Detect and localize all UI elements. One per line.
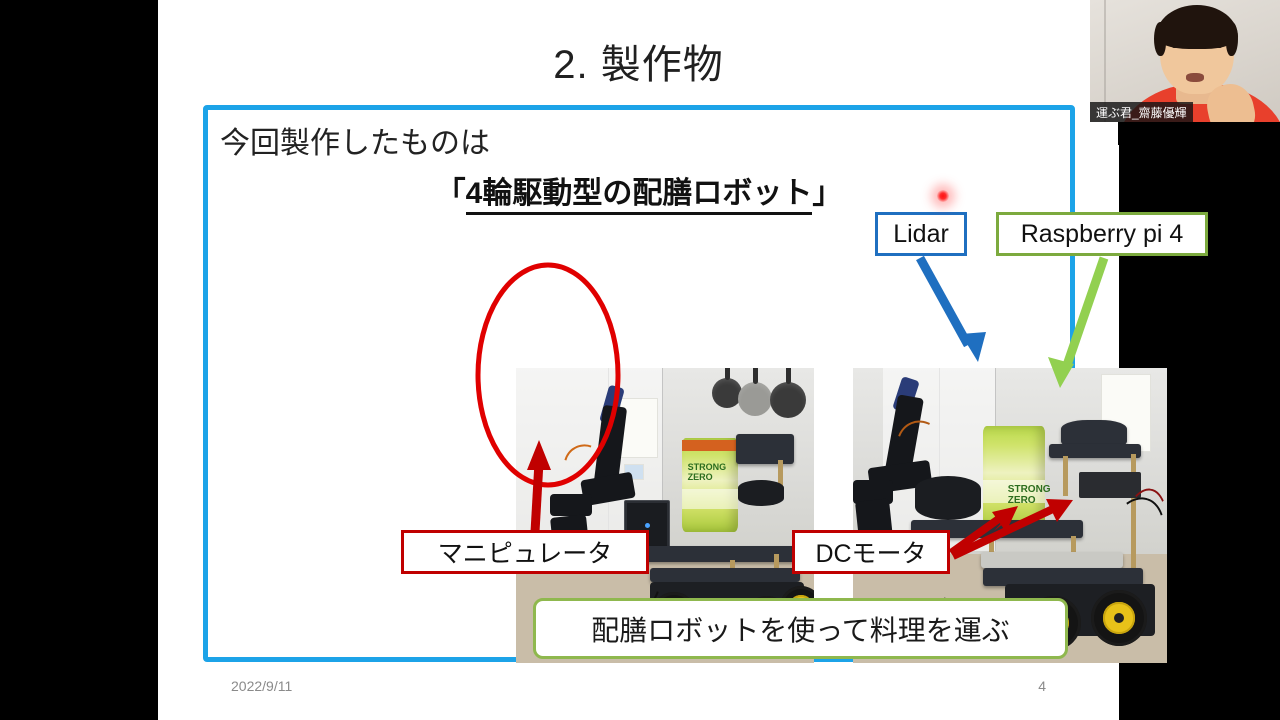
- manipulator-base-joint: [550, 494, 592, 516]
- letterbox-left: [0, 0, 158, 720]
- footer-page-number: 4: [1038, 678, 1046, 694]
- callout-raspberry-pi: Raspberry pi 4: [996, 212, 1208, 256]
- summary-text: 配膳ロボットを使って料理を運ぶ: [591, 609, 1010, 649]
- drink-can: STRONG ZERO: [983, 426, 1045, 530]
- wall-paper-note: [620, 398, 658, 458]
- pan-handle: [725, 368, 730, 380]
- slide-title: 2. 製作物: [158, 32, 1119, 90]
- slide-canvas: 2. 製作物 今回製作したものは 「4輪駆動型の配膳ロボット」: [158, 0, 1119, 720]
- wheel-hub: [1103, 602, 1134, 633]
- rear-shelf: [736, 434, 794, 464]
- zoom-presentation-screen: 2. 製作物 今回製作したものは 「4輪駆動型の配膳ロボット」: [0, 0, 1280, 720]
- support-post: [1063, 456, 1068, 496]
- webcam-person-hair-side-left: [1154, 22, 1166, 56]
- content-frame: 今回製作したものは 「4輪駆動型の配膳ロボット」: [203, 105, 1075, 662]
- webcam-person-eye-right: [1210, 44, 1222, 48]
- summary-box: 配膳ロボットを使って料理を運ぶ: [533, 598, 1068, 659]
- webcam-person-eye-left: [1172, 44, 1184, 48]
- webcam-person-hair-side-right: [1226, 22, 1238, 56]
- pan-handle: [786, 368, 791, 384]
- middle-deck: [650, 568, 800, 582]
- webcam-participant-name-label: 運ぶ君_齋藤優輝: [1090, 102, 1193, 122]
- hanging-pan: [770, 382, 806, 418]
- wheel-right-dc-motor: [1091, 590, 1147, 646]
- callout-manipulator: マニピュレータ: [401, 530, 649, 574]
- hanging-pan: [738, 382, 772, 416]
- webcam-person-mouth: [1186, 73, 1204, 82]
- raspberry-pi-board: [1079, 472, 1141, 498]
- laser-pointer-dot: [937, 190, 949, 202]
- webcam-video-tile[interactable]: 運ぶ君_齋藤優輝: [1090, 0, 1280, 145]
- headline-close-bracket: 」: [812, 177, 842, 210]
- headline-main-text: 4輪駆動型の配膳ロボット: [466, 177, 813, 215]
- webcam-bottom-bar: [1118, 122, 1280, 145]
- can-label: STRONG ZERO: [688, 462, 738, 482]
- can-label: STRONG ZERO: [1008, 484, 1051, 506]
- hanging-pan: [712, 378, 742, 408]
- lidar-sensor: [915, 476, 981, 520]
- callout-lidar-text: Lidar: [893, 220, 949, 249]
- can-top-band: [682, 440, 738, 451]
- webcam-participant-name-text: 運ぶ君_齋藤優輝: [1096, 104, 1187, 121]
- callout-dc-motor: DCモータ: [792, 530, 950, 574]
- lead-text: 今回製作したものは: [220, 118, 490, 162]
- footer-date: 2022/9/11: [231, 678, 292, 694]
- callout-lidar: Lidar: [875, 212, 967, 256]
- can-mid-band: [682, 489, 738, 510]
- lidar-sensor: [738, 480, 784, 506]
- callout-manipulator-text: マニピュレータ: [438, 534, 613, 570]
- callout-raspberry-pi-text: Raspberry pi 4: [1021, 220, 1184, 249]
- webcam-bottom-corner: [1090, 122, 1118, 145]
- drink-can: STRONG ZERO: [682, 438, 738, 532]
- callout-dc-motor-text: DCモータ: [815, 534, 926, 570]
- pan-handle: [753, 368, 758, 384]
- headline-open-bracket: 「: [436, 177, 466, 210]
